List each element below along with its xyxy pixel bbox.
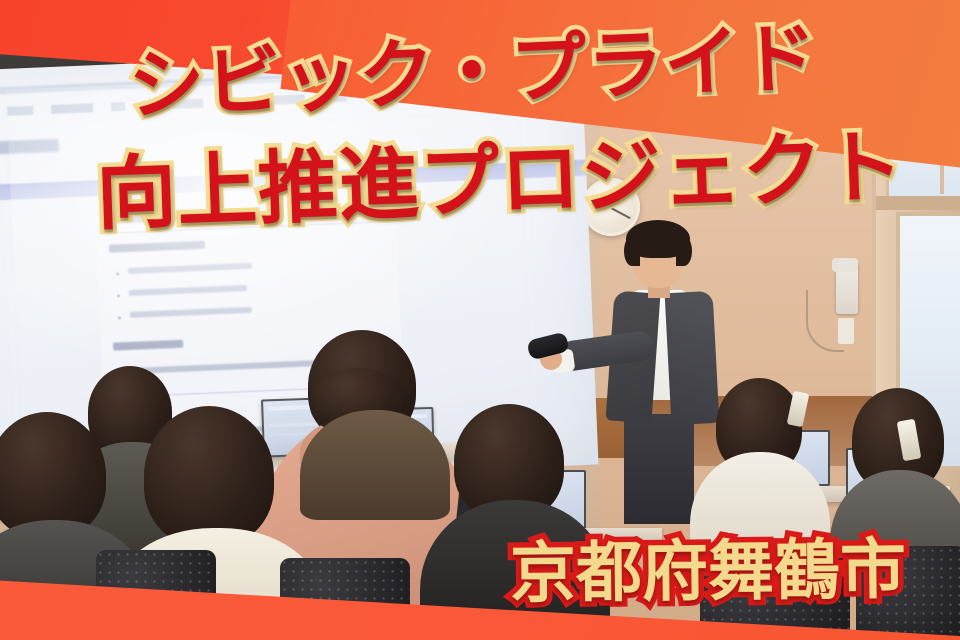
projected-page-title xyxy=(0,139,59,157)
chair-far-right xyxy=(856,546,960,640)
participant-head-l3 xyxy=(144,406,274,546)
wall-phone-handset xyxy=(832,258,858,272)
wall-phone-box xyxy=(838,318,854,344)
poster-image: シビック・プライド 向上推進プロジェクト 京都府舞鶴市 xyxy=(0,0,960,640)
presenter xyxy=(596,218,736,508)
door-header xyxy=(876,196,960,210)
projected-accent-band xyxy=(0,160,586,205)
